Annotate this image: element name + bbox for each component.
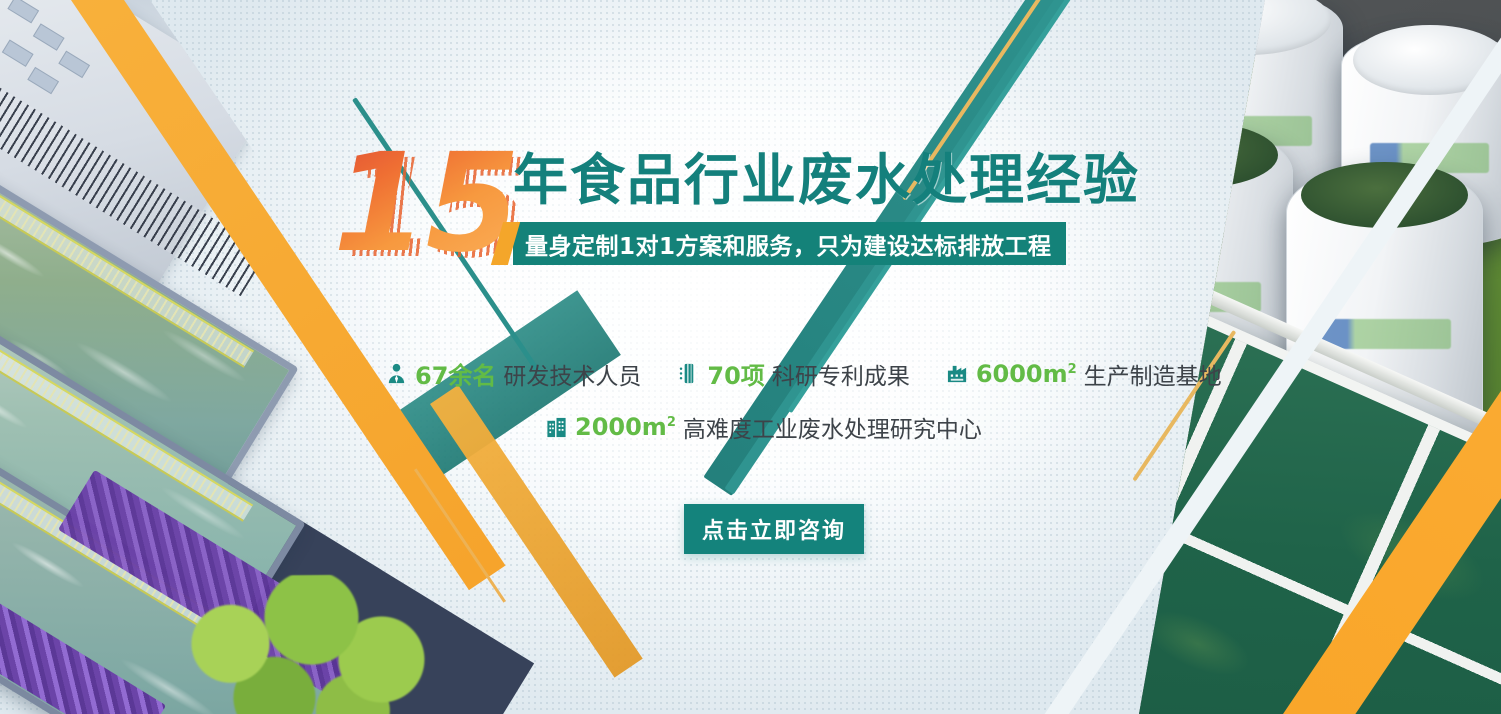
- patent-document-icon: [677, 362, 700, 385]
- subtitle-bar: 量身定制1对1方案和服务，只为建设达标排放工程: [513, 222, 1066, 265]
- stat-label: 研发技术人员: [503, 357, 641, 391]
- stat-number: 2000m2: [575, 413, 676, 441]
- stats-block: 67余名 研发技术人员 70项 科研专利成果: [385, 356, 1105, 444]
- stat-unit-superscript: 2: [1068, 362, 1077, 377]
- stat-unit-superscript: 2: [667, 415, 676, 430]
- hero-banner: 15 15 年食品行业废水处理经验 量身定制1对1方案和服务，只为建设达标排放工…: [0, 0, 1501, 714]
- stat-item-research-center: 2000m2 高难度工业废水处理研究中心: [545, 410, 982, 444]
- stat-item-patents: 70项 科研专利成果: [677, 356, 909, 391]
- stat-item-staff: 67余名 研发技术人员: [385, 356, 641, 391]
- page-title: 年食品行业废水处理经验: [513, 152, 1140, 208]
- stat-item-factory: 6000m2 生产制造基地: [946, 357, 1222, 391]
- stat-number: 70项: [707, 356, 764, 391]
- stat-number: 6000m2: [976, 360, 1077, 388]
- stat-label: 高难度工业废水处理研究中心: [683, 410, 982, 444]
- stats-row-primary: 67余名 研发技术人员 70项 科研专利成果: [385, 356, 1105, 391]
- factory-icon: [946, 362, 969, 385]
- stat-label: 生产制造基地: [1084, 357, 1222, 391]
- user-tie-icon: [385, 362, 408, 385]
- consult-now-button[interactable]: 点击立即咨询: [684, 504, 864, 554]
- headline-row: 15 15 年食品行业废水处理经验 量身定制1对1方案和服务，只为建设达标排放工…: [333, 152, 1140, 284]
- stats-row-secondary: 2000m2 高难度工业废水处理研究中心: [545, 410, 1105, 444]
- stat-number: 67余名: [415, 356, 496, 391]
- banner-content: 15 15 年食品行业废水处理经验 量身定制1对1方案和服务，只为建设达标排放工…: [0, 0, 1501, 714]
- years-number: 15 15: [333, 152, 501, 284]
- subtitle-text: 量身定制1对1方案和服务，只为建设达标排放工程: [525, 227, 1052, 261]
- years-number-text: 15: [333, 136, 518, 272]
- stat-label: 科研专利成果: [772, 357, 910, 391]
- city-buildings-icon: [545, 416, 568, 439]
- headline-texts: 年食品行业废水处理经验 量身定制1对1方案和服务，只为建设达标排放工程: [513, 152, 1140, 265]
- subtitle-teal-bar: 量身定制1对1方案和服务，只为建设达标排放工程: [513, 222, 1066, 265]
